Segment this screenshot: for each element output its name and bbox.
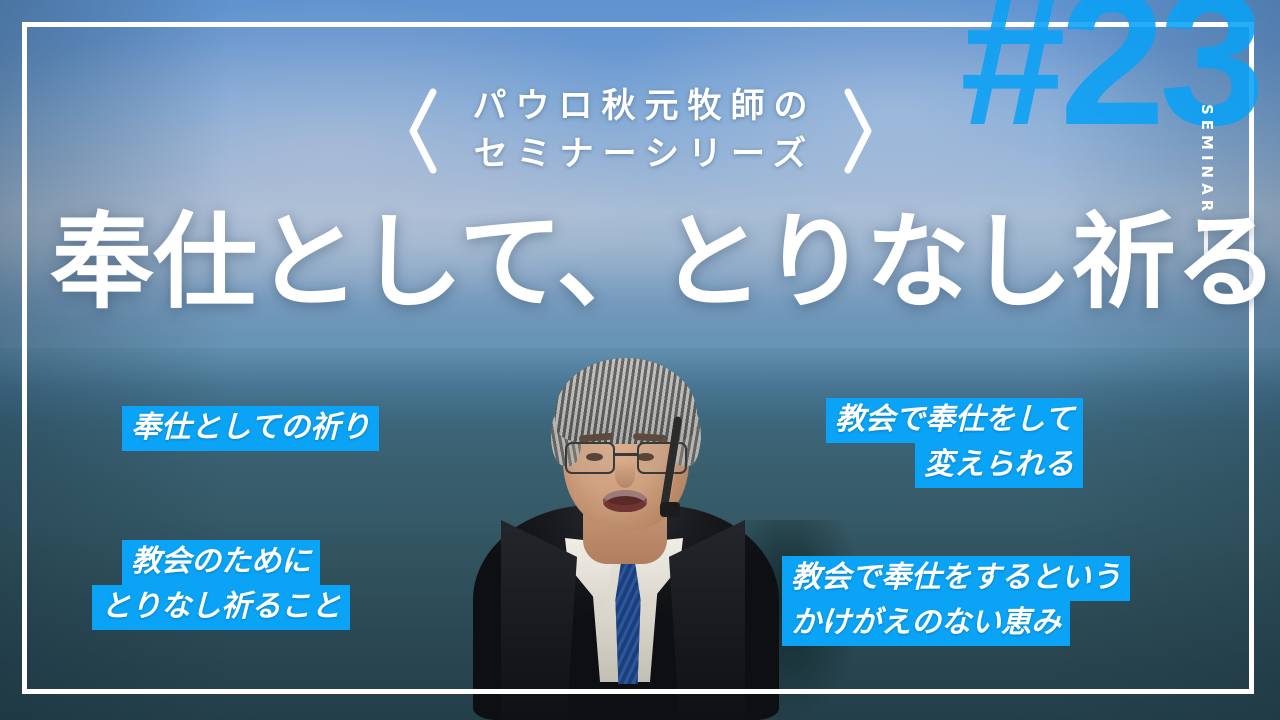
series-subtitle-line-1: パウロ秋元牧師の [464, 84, 817, 130]
page-title: 奉仕として、とりなし祈る [50, 206, 1240, 318]
caption-line: 教会で奉仕をするという [782, 556, 1130, 601]
caption-line: かけがえのない恵み [782, 601, 1070, 646]
series-subtitle: パウロ秋元牧師の セミナーシリーズ [300, 72, 980, 190]
caption-lower-right: 教会で奉仕をするという かけがえのない恵み [782, 556, 1130, 646]
caption-line: 教会のために [122, 540, 320, 585]
speaker-mouth [603, 490, 647, 512]
caption-lower-left: 教会のために とりなし祈ること [92, 540, 350, 630]
caption-line: とりなし祈ること [92, 585, 350, 630]
caption-upper-left: 奉仕としての祈り [122, 406, 379, 451]
caption-line: 教会で奉仕をして [826, 398, 1083, 443]
caption-upper-right: 教会で奉仕をして 変えられる [826, 398, 1083, 488]
thumbnail-canvas: パウロ秋元牧師の セミナーシリーズ #23 SEMINAR 奉仕として、とりなし… [0, 0, 1280, 720]
seminar-vertical-label-text: SEMINAR [1198, 104, 1216, 216]
chevron-left-icon [406, 87, 440, 175]
caption-line: 変えられる [915, 443, 1083, 488]
headset-microphone-capsule [660, 502, 680, 517]
glasses-bridge [615, 453, 637, 456]
series-subtitle-text: パウロ秋元牧師の セミナーシリーズ [464, 84, 817, 178]
glasses-lens-right [637, 442, 687, 474]
caption-line: 奉仕としての祈り [122, 406, 379, 451]
glasses-lens-left [565, 442, 615, 474]
speaker-portrait [455, 350, 795, 720]
chevron-right-icon [841, 87, 875, 175]
series-subtitle-line-2: セミナーシリーズ [465, 132, 816, 178]
